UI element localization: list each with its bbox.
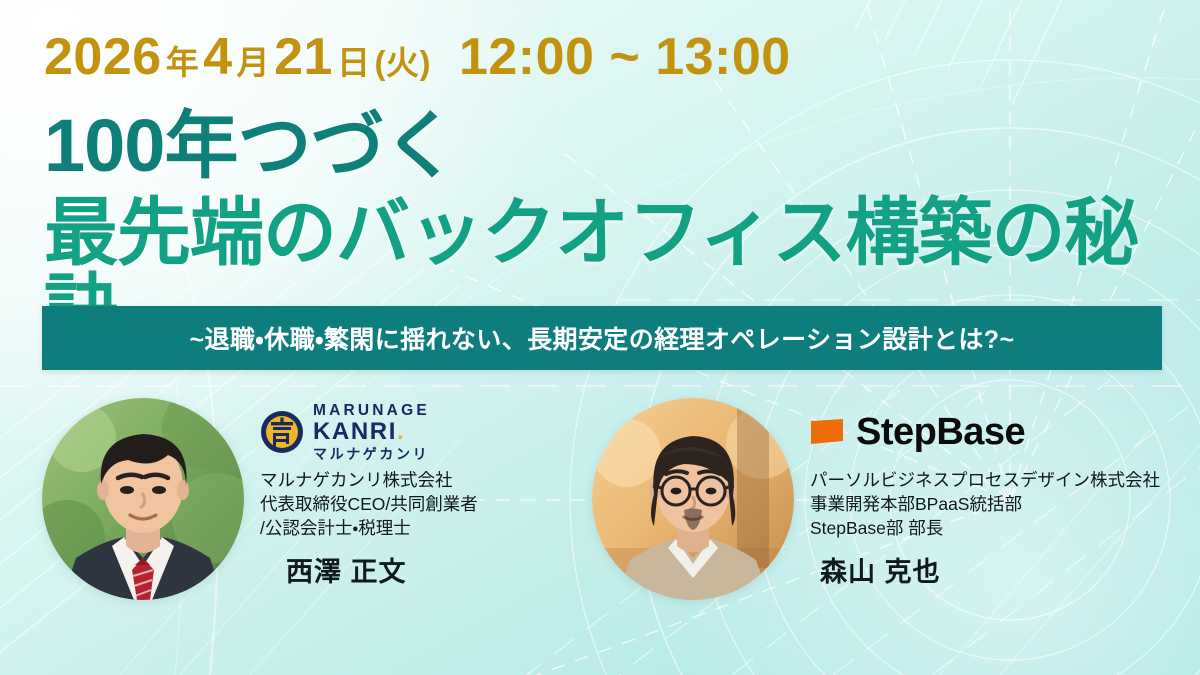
event-time: 12:00 ~ 13:00: [459, 31, 791, 83]
title-line-1: 100年つづく: [44, 108, 1200, 183]
speaker-photo-2: [592, 398, 794, 600]
org-line: マルナゲカンリ株式会社: [260, 468, 478, 492]
event-month: 4: [203, 31, 232, 83]
org-line: /公認会計士・税理士: [260, 516, 478, 540]
marunage-kanri-word: KANRI: [313, 418, 397, 445]
org-line: パーソルビジネスプロセスデザイン株式会社: [810, 468, 1160, 492]
event-month-unit: 月: [237, 46, 271, 79]
marunage-dot: .: [397, 418, 405, 445]
marunage-emblem-icon: [260, 410, 304, 454]
marunage-line-2: KANRI.: [313, 420, 430, 444]
avatar: [592, 398, 794, 600]
speaker-card-2: StepBase パーソルビジネスプロセスデザイン株式会社 事業開発本部BPaa…: [592, 398, 1160, 600]
event-year-unit: 年: [166, 46, 200, 79]
event-day: 21: [274, 31, 333, 83]
marunage-line-1: MARUNAGE: [313, 403, 430, 419]
org-line: 事業開発本部BPaaS統括部: [810, 492, 1160, 516]
marunage-line-3: マルナゲカンリ: [313, 447, 430, 461]
subtitle-bar: ~退職・休職・繁閑に揺れない、長期安定の経理オペレーション設計とは?~: [42, 306, 1162, 370]
stepbase-wordmark: StepBase: [856, 413, 1025, 451]
speaker-info-2: StepBase パーソルビジネスプロセスデザイン株式会社 事業開発本部BPaa…: [810, 398, 1160, 589]
event-datetime: 2026 年 4 月 21 日 (火) 12:00 ~ 13:00: [44, 31, 791, 83]
subtitle-text: ~退職・休職・繁閑に揺れない、長期安定の経理オペレーション設計とは?~: [190, 320, 1015, 356]
event-weekday: (火): [374, 46, 430, 79]
speaker-info-1: MARUNAGE KANRI. マルナゲカンリ マルナゲカンリ株式会社 代表取締…: [260, 398, 478, 589]
seminar-poster: 2026 年 4 月 21 日 (火) 12:00 ~ 13:00 100年つづ…: [0, 0, 1200, 675]
marunage-wordmark: MARUNAGE KANRI. マルナゲカンリ: [313, 403, 430, 462]
speaker-card-1: MARUNAGE KANRI. マルナゲカンリ マルナゲカンリ株式会社 代表取締…: [42, 398, 478, 600]
speaker-1-org: マルナゲカンリ株式会社 代表取締役CEO/共同創業者 /公認会計士・税理士: [260, 468, 478, 540]
stepbase-logo: StepBase: [810, 404, 1160, 460]
marunage-kanri-logo: MARUNAGE KANRI. マルナゲカンリ: [260, 404, 478, 460]
org-line: StepBase部 部長: [810, 516, 1160, 540]
event-year: 2026: [44, 31, 162, 83]
org-line: 代表取締役CEO/共同創業者: [260, 492, 478, 516]
avatar: [42, 398, 244, 600]
speaker-1-name: 西澤 正文: [286, 550, 478, 589]
speaker-photo-1: [42, 398, 244, 600]
speaker-2-name: 森山 克也: [820, 550, 1160, 589]
event-day-unit: 日: [337, 46, 371, 79]
stepbase-mark-icon: [810, 419, 844, 445]
speaker-2-org: パーソルビジネスプロセスデザイン株式会社 事業開発本部BPaaS統括部 Step…: [810, 468, 1160, 540]
